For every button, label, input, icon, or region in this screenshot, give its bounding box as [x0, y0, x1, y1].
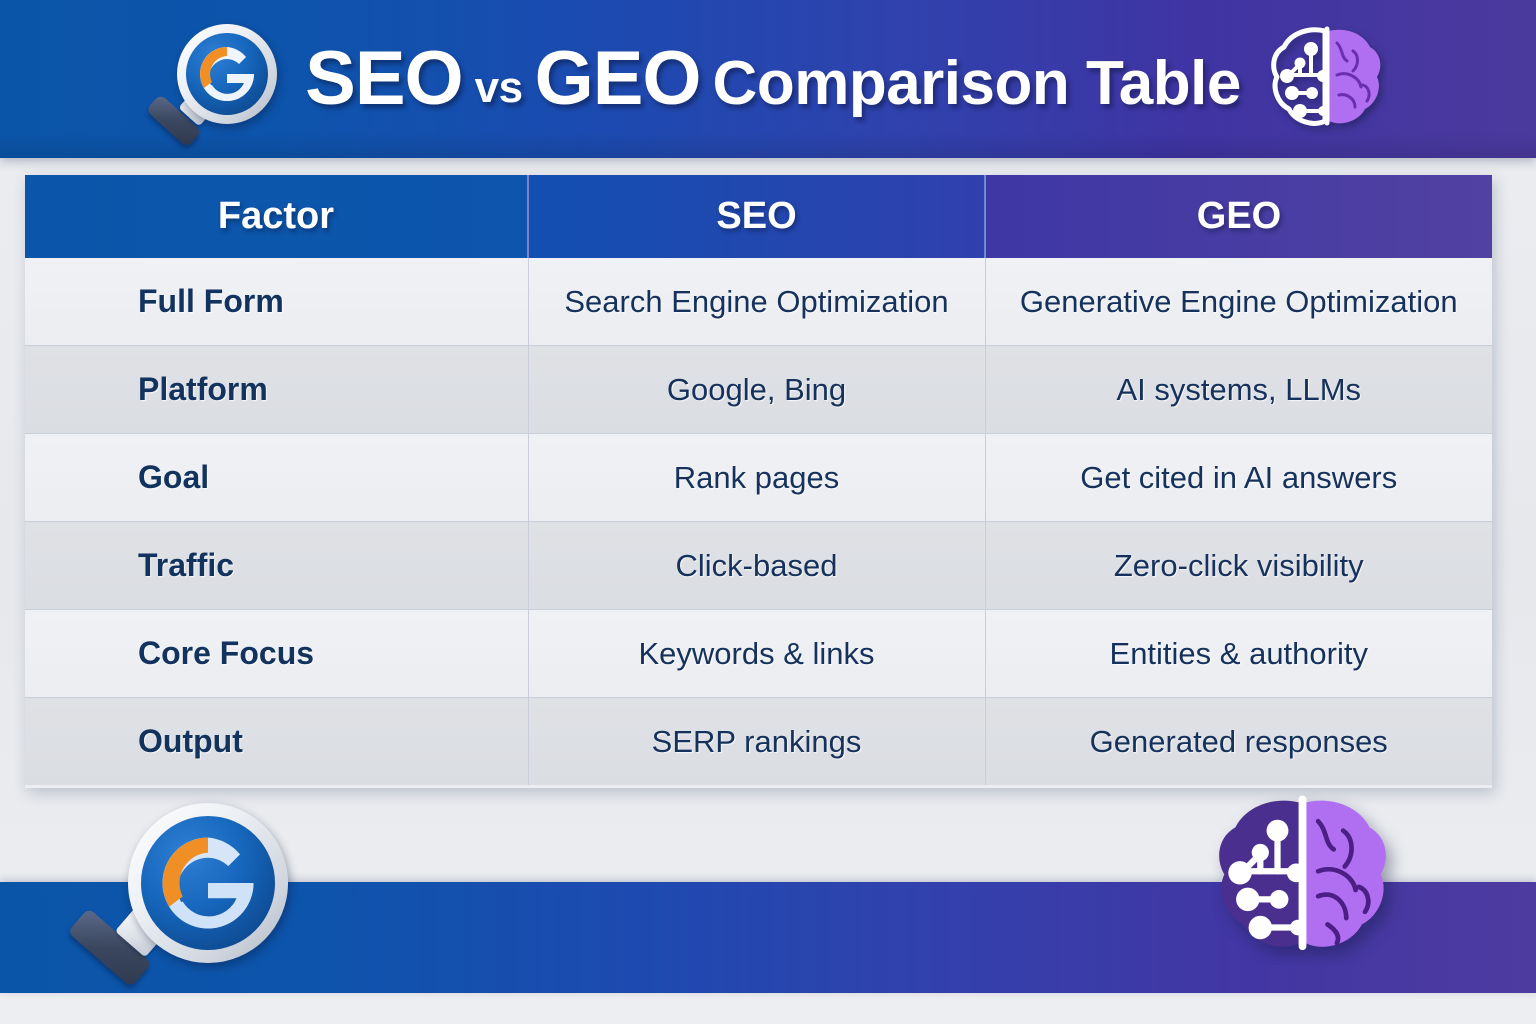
cell-factor: Full Form [25, 258, 528, 346]
cell-seo: SERP rankings [528, 698, 985, 786]
page-title: SEO vs GEO Comparison Table [305, 41, 1241, 117]
cell-seo: Rank pages [528, 434, 985, 522]
table-row: Goal Rank pages Get cited in AI answers [25, 434, 1492, 522]
magnifying-glass-google-g-icon [149, 19, 279, 139]
google-g-glyph [149, 824, 267, 942]
table-row: Core Focus Keywords & links Entities & a… [25, 610, 1492, 698]
seo-vs-geo-comparison-table: Factor SEO GEO Full Form Search Engine O… [25, 175, 1492, 785]
footer-magnifying-glass-google-g-icon [70, 800, 290, 975]
cell-seo: Click-based [528, 522, 985, 610]
table-row: Traffic Click-based Zero-click visibilit… [25, 522, 1492, 610]
footer-ai-brain-circuit-icon [1195, 790, 1410, 965]
table-row: Platform Google, Bing AI systems, LLMs [25, 346, 1492, 434]
table-body: Full Form Search Engine Optimization Gen… [25, 258, 1492, 785]
cell-geo: Generative Engine Optimization [985, 258, 1492, 346]
title-geo: GEO [535, 41, 701, 117]
ai-brain-circuit-icon [1267, 23, 1387, 135]
cell-factor: Core Focus [25, 610, 528, 698]
column-header-seo: SEO [528, 175, 985, 258]
title-seo: SEO [305, 41, 463, 117]
cell-geo: Entities & authority [985, 610, 1492, 698]
comparison-table-container: Factor SEO GEO Full Form Search Engine O… [25, 175, 1492, 788]
table-row: Full Form Search Engine Optimization Gen… [25, 258, 1492, 346]
cell-factor: Goal [25, 434, 528, 522]
google-g-glyph [192, 39, 262, 109]
table-header: Factor SEO GEO [25, 175, 1492, 258]
header-banner: SEO vs GEO Comparison Table [0, 0, 1536, 158]
cell-geo: Zero-click visibility [985, 522, 1492, 610]
cell-geo: Get cited in AI answers [985, 434, 1492, 522]
table-header-row: Factor SEO GEO [25, 175, 1492, 258]
cell-seo: Google, Bing [528, 346, 985, 434]
cell-geo: Generated responses [985, 698, 1492, 786]
cell-factor: Traffic [25, 522, 528, 610]
column-header-geo: GEO [985, 175, 1492, 258]
cell-seo: Keywords & links [528, 610, 985, 698]
title-vs: vs [475, 66, 523, 110]
header-title-row: SEO vs GEO Comparison Table [0, 0, 1536, 158]
cell-geo: AI systems, LLMs [985, 346, 1492, 434]
table-row: Output SERP rankings Generated responses [25, 698, 1492, 786]
cell-seo: Search Engine Optimization [528, 258, 985, 346]
cell-factor: Platform [25, 346, 528, 434]
title-rest: Comparison Table [713, 53, 1241, 115]
cell-factor: Output [25, 698, 528, 786]
column-header-factor: Factor [25, 175, 528, 258]
